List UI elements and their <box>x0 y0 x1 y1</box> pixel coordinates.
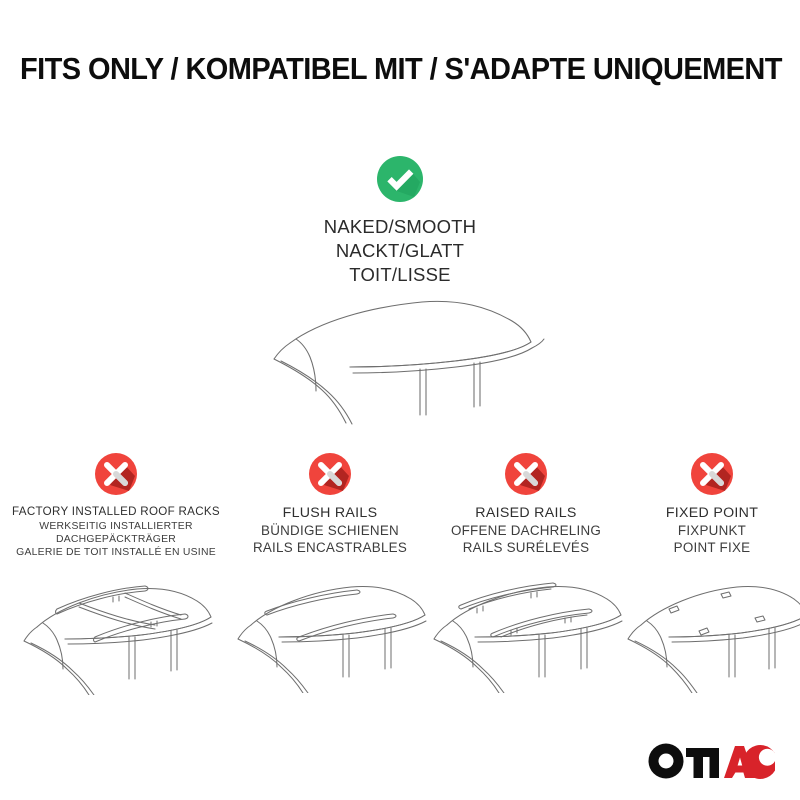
omac-logo <box>646 740 776 782</box>
logo-letter-m <box>686 748 719 778</box>
label-line-2: FIXPUNKT <box>666 523 758 540</box>
label-line-1: FACTORY INSTALLED ROOF RACKS <box>12 505 220 520</box>
incompatible-label: RAISED RAILS OFFENE DACHRELING RAILS SUR… <box>451 505 601 557</box>
incompatible-label: FLUSH RAILS BÜNDIGE SCHIENEN RAILS ENCAS… <box>253 505 407 557</box>
incompatible-item-factory-roof-racks: FACTORY INSTALLED ROOF RACKS WERKSEITIG … <box>0 452 232 695</box>
incompatible-label: FIXED POINT FIXPUNKT POINT FIXE <box>666 505 758 557</box>
compatible-label-line-2: NACKT/GLATT <box>324 239 476 263</box>
x-circle-icon <box>308 452 352 496</box>
compatible-label-line-1: NAKED/SMOOTH <box>324 215 476 239</box>
compatible-section: NAKED/SMOOTH NACKT/GLATT TOIT/LISSE <box>0 155 800 430</box>
incompatible-item-flush-rails: FLUSH RAILS BÜNDIGE SCHIENEN RAILS ENCAS… <box>232 452 428 695</box>
incompatible-item-fixed-point: FIXED POINT FIXPUNKT POINT FIXE <box>624 452 800 695</box>
compatible-label: NAKED/SMOOTH NACKT/GLATT TOIT/LISSE <box>324 215 476 287</box>
logo-letter-o <box>649 744 684 779</box>
label-line-3: DACHGEPÄCKTRÄGER <box>12 533 220 546</box>
check-circle-icon <box>376 155 424 203</box>
x-circle-icon <box>690 452 734 496</box>
label-line-4: GALERIE DE TOIT INSTALLÉ EN USINE <box>12 546 220 559</box>
label-line-3: RAILS ENCASTRABLES <box>253 540 407 557</box>
incompatible-label: FACTORY INSTALLED ROOF RACKS WERKSEITIG … <box>12 505 220 559</box>
label-line-2: OFFENE DACHRELING <box>451 523 601 540</box>
label-line-1: RAISED RAILS <box>451 505 601 523</box>
compatible-label-line-3: TOIT/LISSE <box>324 263 476 287</box>
label-line-2: WERKSEITIG INSTALLIERTER <box>12 520 220 533</box>
car-roof-flush-rails-illustration <box>223 563 438 693</box>
incompatible-section: FACTORY INSTALLED ROOF RACKS WERKSEITIG … <box>0 452 800 695</box>
incompatible-item-raised-rails: RAISED RAILS OFFENE DACHRELING RAILS SUR… <box>428 452 624 695</box>
x-circle-icon <box>504 452 548 496</box>
car-roof-factory-roof-racks-illustration <box>9 565 224 695</box>
label-line-3: POINT FIXE <box>666 540 758 557</box>
car-roof-naked-smooth-illustration <box>250 295 550 430</box>
car-roof-fixed-point-illustration <box>617 563 800 693</box>
x-circle-icon <box>94 452 138 496</box>
label-line-1: FLUSH RAILS <box>253 505 407 523</box>
label-line-3: RAILS SURÉLEVÉS <box>451 540 601 557</box>
label-line-2: BÜNDIGE SCHIENEN <box>253 523 407 540</box>
car-roof-raised-rails-illustration <box>419 563 634 693</box>
page-title: FITS ONLY / KOMPATIBEL MIT / S'ADAPTE UN… <box>20 52 780 87</box>
label-line-1: FIXED POINT <box>666 505 758 523</box>
